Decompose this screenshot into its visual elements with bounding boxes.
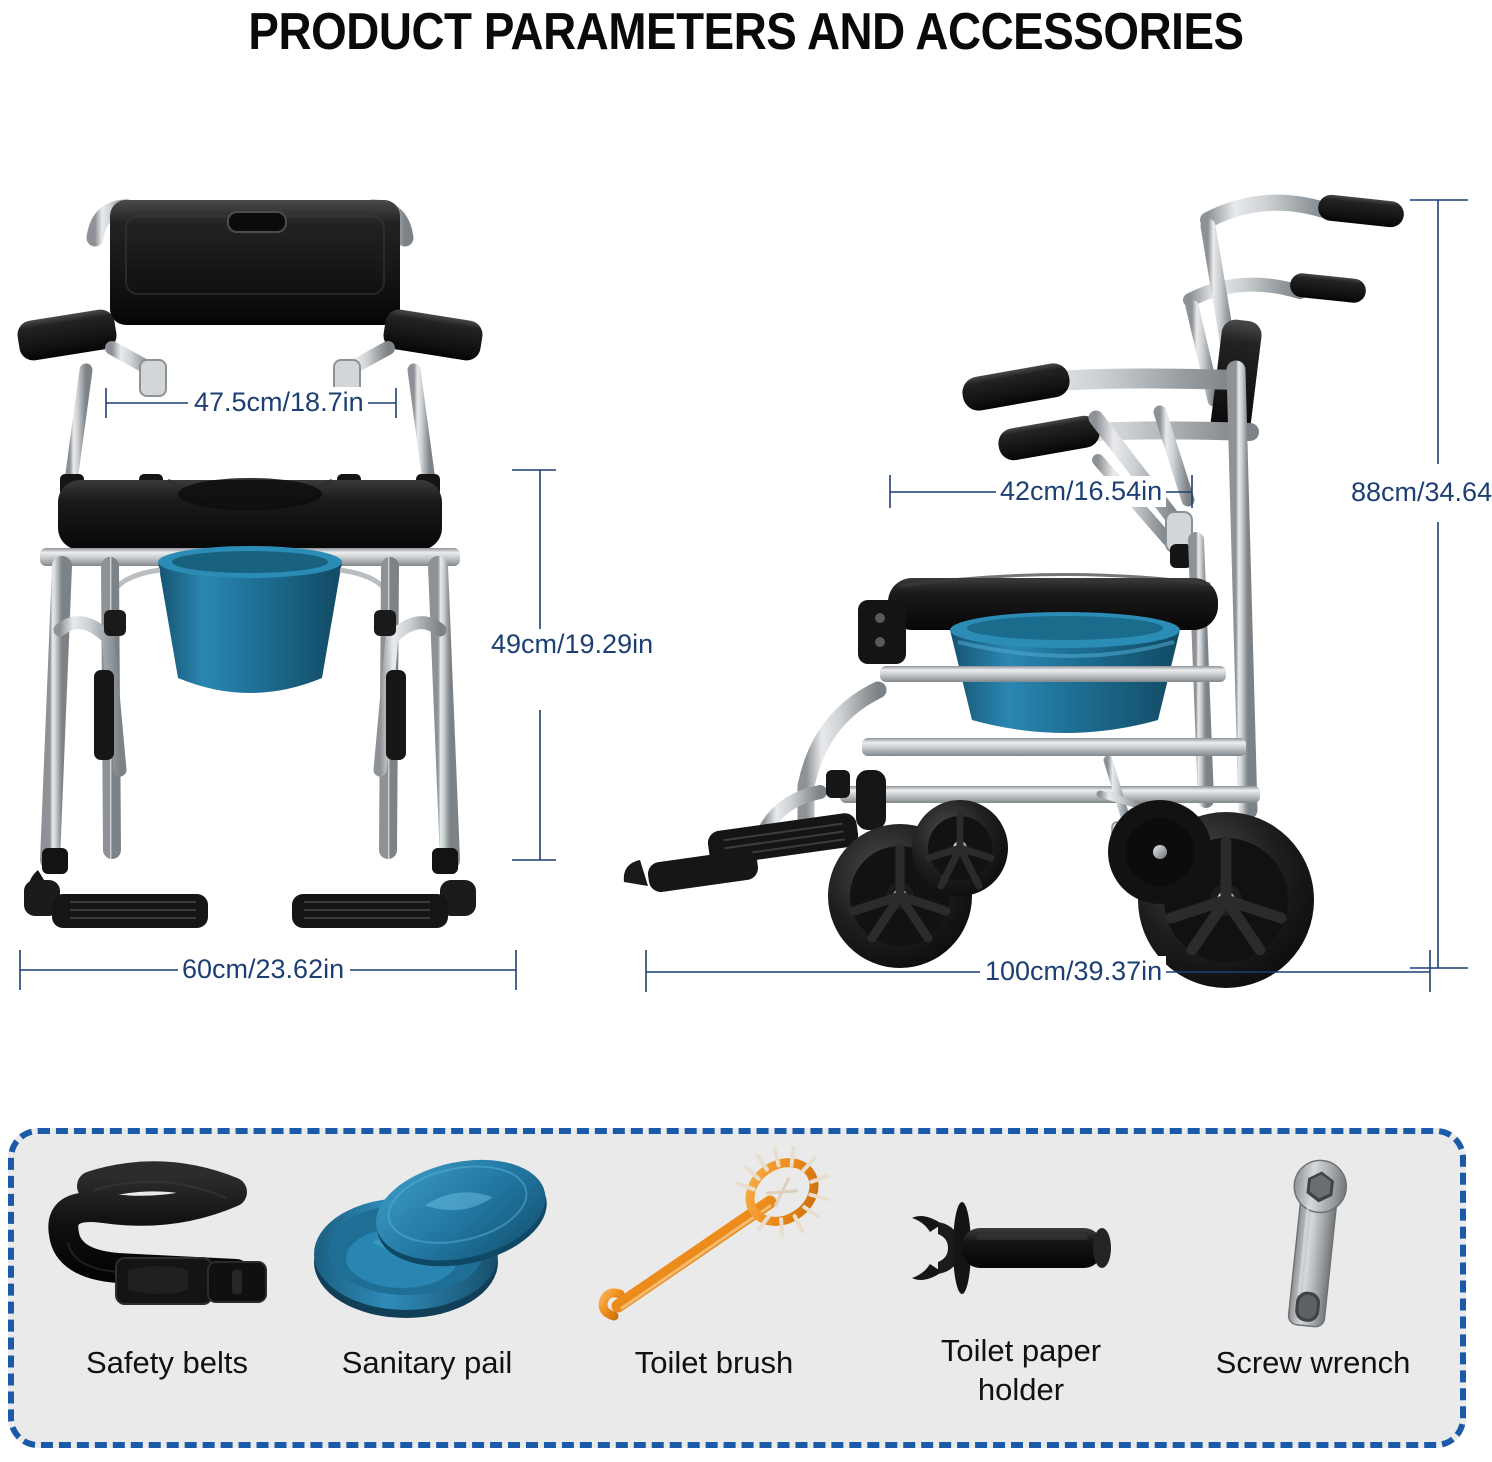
toilet-brush-icon (574, 1146, 854, 1346)
side-mid-wheel (912, 800, 1008, 896)
dim-label-seat-depth: 42cm/16.54in (996, 476, 1166, 507)
accessory-sanitary-pail: Sanitary pail (302, 1134, 552, 1454)
accessories-panel: Safety belts (8, 1128, 1466, 1448)
sanitary-pail-icon (302, 1146, 552, 1346)
dim-line-overall-height (1410, 200, 1468, 968)
accessory-label-toilet-brush: Toilet brush (574, 1344, 854, 1383)
product-diagrams-svg (0, 70, 1492, 1100)
dim-label-overall-height: 88cm/34.64in (1347, 477, 1492, 508)
side-rear-wheel-back (1108, 800, 1212, 904)
front-bucket (112, 546, 388, 693)
accessory-label-toilet-paper-holder: Toilet paper holder (876, 1332, 1166, 1410)
accessory-safety-belts: Safety belts (32, 1134, 302, 1454)
accessory-toilet-brush: Toilet brush (574, 1134, 854, 1454)
accessory-screw-wrench: Screw wrench (1178, 1134, 1448, 1454)
screw-wrench-icon (1178, 1146, 1448, 1346)
page-title: PRODUCT PARAMETERS AND ACCESSORIES (90, 0, 1403, 64)
side-view-illustration (624, 194, 1468, 992)
accessory-toilet-paper-holder: Toilet paper holder (876, 1134, 1166, 1454)
toilet-paper-holder-icon (876, 1146, 1166, 1346)
safety-belt-icon (32, 1146, 302, 1346)
accessory-label-safety-belts: Safety belts (32, 1344, 302, 1383)
accessory-label-sanitary-pail: Sanitary pail (302, 1344, 552, 1383)
dim-label-seat-height: 49cm/19.29in (487, 629, 657, 660)
front-view-illustration (15, 200, 556, 990)
dim-line-seat-height (512, 470, 556, 860)
dim-label-seat-width: 47.5cm/18.7in (190, 387, 368, 418)
accessory-label-screw-wrench: Screw wrench (1178, 1344, 1448, 1383)
dim-label-overall-length: 100cm/39.37in (981, 956, 1166, 987)
product-diagram-area: 47.5cm/18.7in 49cm/19.29in 60cm/23.62in … (0, 70, 1492, 1100)
dim-label-overall-width: 60cm/23.62in (178, 954, 348, 985)
front-seat-cushion (58, 478, 442, 550)
